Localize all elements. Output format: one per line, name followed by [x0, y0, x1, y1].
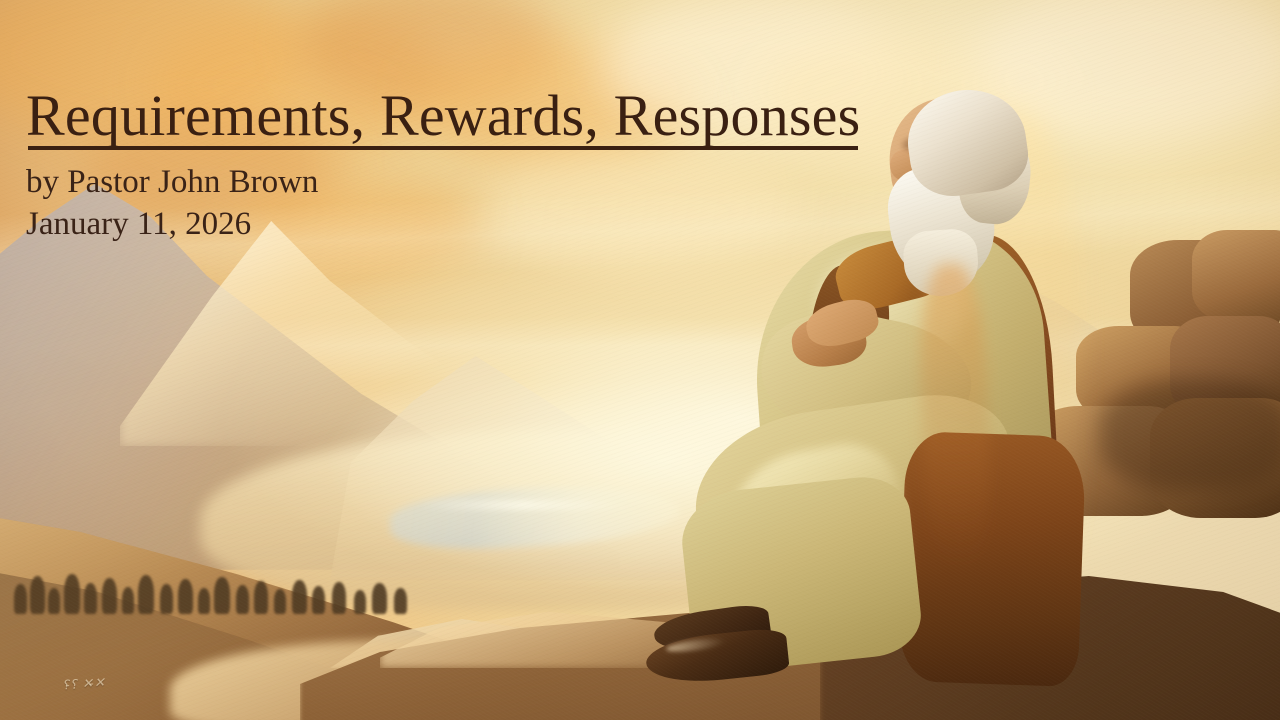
sermon-date: January 11, 2026 — [26, 204, 946, 246]
artist-signature: ⸮̵⸮ ✕̵✕ — [61, 674, 106, 693]
title-text-block: Requirements, Rewards, Responses by Past… — [26, 86, 946, 245]
speaker-byline: by Pastor John Brown — [26, 162, 946, 204]
page-title: Requirements, Rewards, Responses — [26, 86, 860, 148]
sermon-title-slide: ⸮̵⸮ ✕̵✕ Requirements, Rewards, Responses… — [0, 0, 1280, 720]
